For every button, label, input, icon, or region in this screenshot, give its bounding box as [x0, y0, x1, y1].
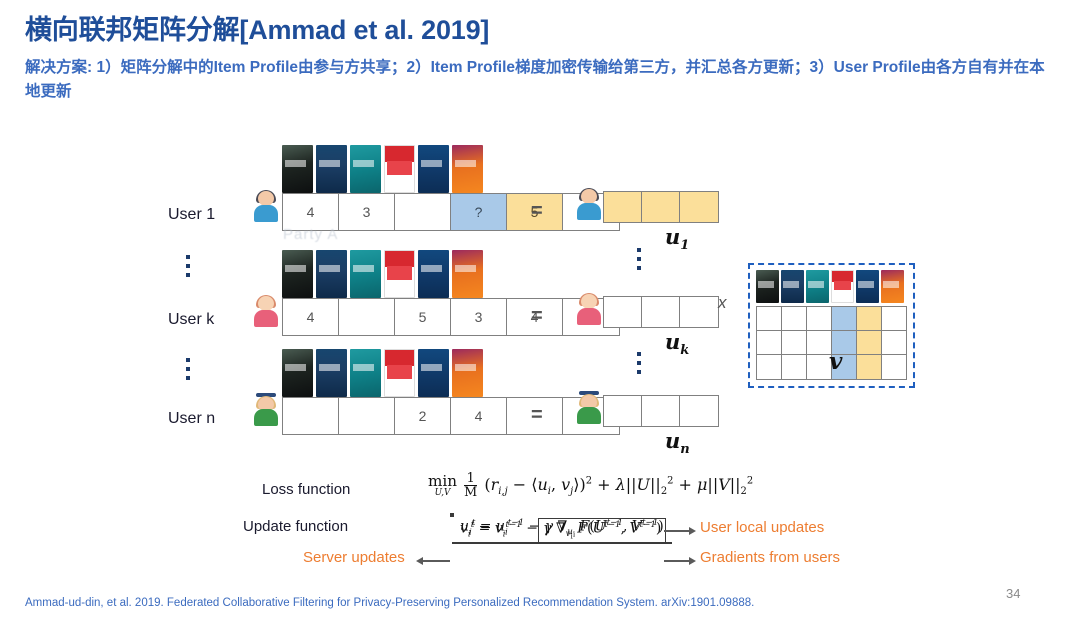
- equals-sign-row-2: =: [531, 305, 543, 328]
- annotation-user-local-updates: User local updates: [700, 519, 824, 536]
- row-label-user-n: User n: [168, 410, 215, 428]
- vertical-ellipsis-left-2: [183, 358, 193, 380]
- v-column[interactable]: [782, 307, 807, 379]
- cover-teal-icon: [350, 250, 381, 298]
- user-vector-un: [603, 395, 719, 427]
- avatar-user-n: [251, 394, 281, 427]
- u-symbol: u: [665, 224, 680, 249]
- cover-black-icon: [282, 145, 313, 193]
- rating-cell[interactable]: 3: [451, 299, 507, 335]
- cover-python-red-icon: [831, 270, 854, 303]
- v-column-highlight-yellow[interactable]: [857, 307, 882, 379]
- cover-black-icon: [282, 250, 313, 298]
- annotation-gradients-from-users: Gradients from users: [700, 549, 840, 566]
- equals-sign-row-3: =: [531, 404, 543, 427]
- row-label-user-1: User 1: [168, 206, 215, 224]
- rating-cell[interactable]: 4: [283, 194, 339, 230]
- user-vector-u1: [603, 191, 719, 223]
- rating-matrix-user-n: 2 4 5: [282, 397, 620, 435]
- u-cell[interactable]: [642, 396, 680, 426]
- fraction-numerator: 1: [464, 472, 477, 486]
- cover-python-red-icon: [384, 349, 415, 397]
- cover-teal-icon: [350, 145, 381, 193]
- avatar-uk: [574, 293, 604, 326]
- update-function-box: uit = uit−1 − γ ∇ui F(Ut−1, Vt−1) vit = …: [450, 513, 454, 517]
- cover-python-red-icon: [384, 145, 415, 193]
- rating-cell-unknown[interactable]: ?: [451, 194, 507, 230]
- rating-cell[interactable]: 2: [395, 398, 451, 434]
- loss-function-label: Loss function: [262, 481, 350, 498]
- avatar-un: [574, 392, 604, 425]
- rating-cell[interactable]: 4: [451, 398, 507, 434]
- min-operator: minU,V: [428, 474, 457, 498]
- cover-blue-icon: [856, 270, 879, 303]
- rating-cell[interactable]: [339, 398, 395, 434]
- gradient-term-box: γ ∇vi F(Ut−1, Vt−1): [538, 518, 666, 543]
- cover-navy-icon: [781, 270, 804, 303]
- avatar-u1: [574, 188, 604, 221]
- item-covers-v: [756, 270, 907, 303]
- fraction-one-over-m: 1 M: [464, 472, 477, 500]
- u-symbol: u: [665, 329, 680, 354]
- cover-blue-icon: [418, 250, 449, 298]
- avatar-user-k: [251, 295, 281, 328]
- annotation-server-updates: Server updates: [303, 549, 405, 566]
- avatar-user-1: [251, 190, 281, 223]
- v-column[interactable]: [757, 307, 782, 379]
- u-cell[interactable]: [604, 396, 642, 426]
- rating-cell[interactable]: 3: [339, 194, 395, 230]
- u-subscript: k: [680, 343, 689, 358]
- update-function-label: Update function: [243, 518, 348, 535]
- rating-cell[interactable]: 5: [395, 299, 451, 335]
- cover-orange-icon: [452, 250, 483, 298]
- arrow-to-user-local-updates: [664, 526, 696, 536]
- row-label-user-k: User k: [168, 311, 214, 329]
- equals-sign-row-1: =: [531, 200, 543, 223]
- arrow-to-gradients-from-users: [664, 556, 696, 566]
- cover-black-icon: [756, 270, 779, 303]
- item-covers-row-3: [282, 349, 483, 397]
- cover-black-icon: [282, 349, 313, 397]
- u-subscript: n: [680, 442, 689, 457]
- label-v: v: [829, 348, 842, 375]
- fraction-denominator: M: [464, 486, 477, 499]
- loss-body: (ri,j − ⟨ui, vj⟩)2 + λ||U||22 + μ||V||22: [484, 475, 753, 494]
- label-u1: u1: [665, 224, 689, 253]
- user-vector-uk: [603, 296, 719, 328]
- slide-subtitle: 解决方案: 1）矩阵分解中的Item Profile由参与方共享；2）Item …: [25, 56, 1060, 104]
- times-sign: x: [718, 293, 727, 313]
- cover-python-red-icon: [384, 250, 415, 298]
- cover-blue-icon: [418, 145, 449, 193]
- page-number: 34: [1006, 586, 1020, 601]
- u-subscript: 1: [680, 238, 689, 253]
- u-cell[interactable]: [680, 396, 718, 426]
- u-symbol: u: [665, 428, 680, 453]
- matrix-factorization-diagram: User 1 4 3 ? 5 Party A = u1 User: [0, 130, 1080, 570]
- u-cell[interactable]: [642, 192, 680, 222]
- u-cell[interactable]: [604, 192, 642, 222]
- arrow-to-server-updates: [416, 556, 450, 566]
- update-v-expression: vit = vit−1 −γ ∇vi F(Ut−1, Vt−1): [452, 515, 674, 546]
- cover-navy-icon: [316, 349, 347, 397]
- u-cell[interactable]: [604, 297, 642, 327]
- cover-blue-icon: [418, 349, 449, 397]
- min-subscript: U,V: [435, 489, 451, 498]
- rating-cell[interactable]: [339, 299, 395, 335]
- rating-matrix-user-k: 4 5 3 4: [282, 298, 620, 336]
- cover-orange-icon: [452, 349, 483, 397]
- item-covers-row-2: [282, 250, 483, 298]
- cover-navy-icon: [316, 145, 347, 193]
- vertical-ellipsis-left-1: [183, 255, 193, 277]
- cover-teal-icon: [350, 349, 381, 397]
- page-title: 横向联邦矩阵分解[Ammad et al. 2019]: [25, 8, 489, 47]
- u-cell[interactable]: [680, 297, 718, 327]
- u-cell[interactable]: [642, 297, 680, 327]
- vertical-ellipsis-right-2: [634, 352, 644, 374]
- rating-cell[interactable]: [283, 398, 339, 434]
- cover-orange-icon: [881, 270, 904, 303]
- rating-cell[interactable]: 4: [283, 299, 339, 335]
- rating-cell[interactable]: [395, 194, 451, 230]
- cover-teal-icon: [806, 270, 829, 303]
- u-cell[interactable]: [680, 192, 718, 222]
- cover-orange-icon: [452, 145, 483, 193]
- vertical-ellipsis-right-1: [634, 248, 644, 270]
- cover-navy-icon: [316, 250, 347, 298]
- ghost-party-label: Party A: [283, 226, 338, 243]
- label-uk: uk: [665, 329, 689, 358]
- footer-citation: Ammad-ud-din, et al. 2019. Federated Col…: [25, 597, 754, 609]
- item-covers-row-1: [282, 145, 483, 193]
- v-column[interactable]: [882, 307, 906, 379]
- loss-function-expression: minU,V 1 M (ri,j − ⟨ui, vj⟩)2 + λ||U||22…: [428, 472, 753, 500]
- label-un: un: [665, 428, 690, 457]
